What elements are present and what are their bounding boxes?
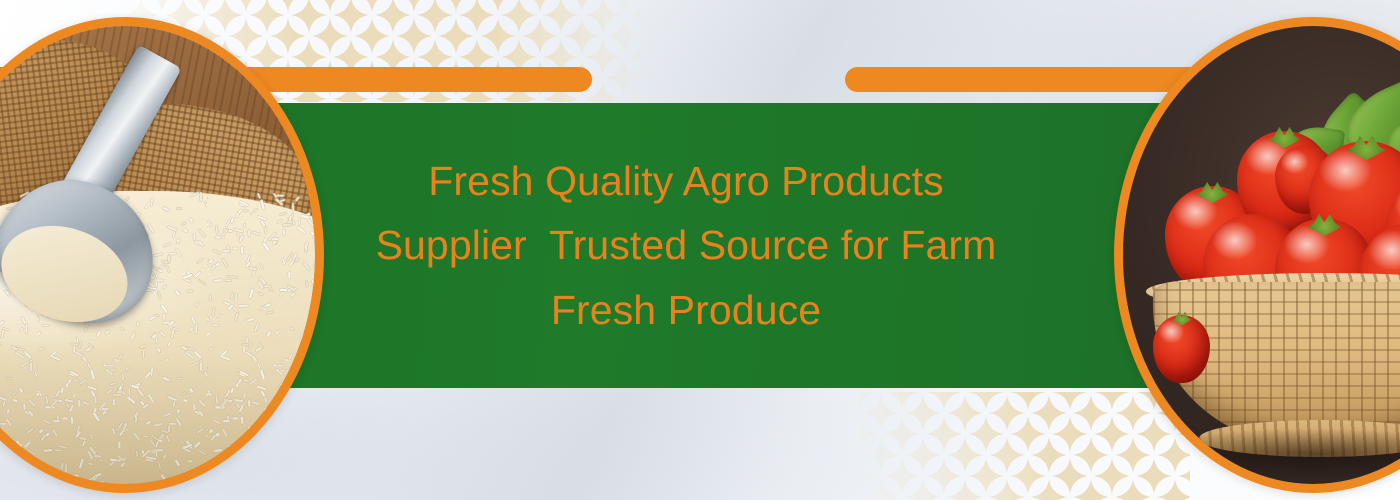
tomatoes-photo-medallion	[1114, 17, 1400, 493]
headline-line-1: Fresh Quality Agro Products	[428, 151, 943, 211]
agro-products-promo-banner: Fresh Quality Agro Products Supplier Tru…	[0, 0, 1400, 500]
headline-line-3: Fresh Produce	[551, 280, 821, 340]
tomatoes-photo	[1123, 26, 1400, 484]
headline-line-2: Supplier Trusted Source for Farm	[376, 215, 997, 275]
banner-headline: Fresh Quality Agro Products Supplier Tru…	[300, 103, 1072, 388]
rice-photo-medallion	[0, 17, 324, 493]
rice-photo	[0, 26, 315, 484]
